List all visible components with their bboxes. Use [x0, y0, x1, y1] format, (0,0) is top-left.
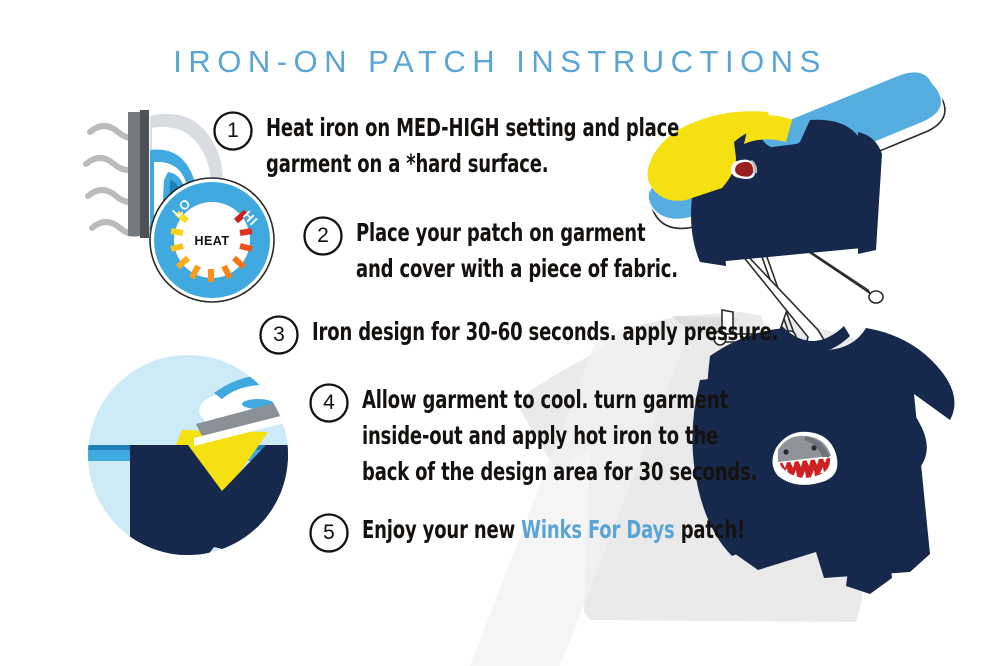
instruction-poster: LO HI HEAT — [0, 0, 1000, 666]
step-2-number: 2 — [302, 215, 344, 257]
iron-soleplate-edge — [128, 112, 140, 236]
badge-yellow-cloth — [172, 430, 268, 498]
step-3-text: Iron design for 30-60 seconds. apply pre… — [312, 314, 778, 350]
step-3-number: 3 — [258, 314, 300, 356]
step-5-line-1: Enjoy your new Winks For Days patch! — [362, 512, 745, 548]
step-1-number: 1 — [212, 110, 254, 152]
step-2-line-2: and cover with a piece of fabric. — [356, 251, 678, 287]
diagonal-shadow — [470, 330, 690, 666]
step-3-line-1: Iron design for 30-60 seconds. apply pre… — [312, 314, 778, 350]
step-4-line-3: back of the design area for 30 seconds. — [362, 454, 757, 490]
step-1-text: Heat iron on MED-HIGH setting and place … — [266, 110, 679, 182]
iron-blue-body — [150, 150, 197, 248]
step-4-text: Allow garment to cool. turn garment insi… — [362, 382, 757, 490]
step-4-line-1: Allow garment to cool. turn garment — [362, 382, 757, 418]
badge-iron-plate — [196, 394, 315, 436]
step-2-line-1: Place your patch on garment — [356, 215, 678, 251]
step-2-text: Place your patch on garment and cover wi… — [356, 215, 678, 287]
dial-ticks — [171, 212, 252, 282]
step-3: 3 Iron design for 30-60 seconds. apply p… — [258, 314, 895, 356]
step-1-line-2: garment on a *hard surface. — [266, 146, 679, 182]
heat-dial-group: LO HI HEAT — [150, 178, 274, 302]
step-2-number-badge: 2 — [302, 215, 344, 257]
dial-label-hi: HI — [240, 208, 261, 229]
dial-label-lo: LO — [169, 195, 194, 220]
dial-outer-ring — [150, 178, 274, 302]
page-title: IRON-ON PATCH INSTRUCTIONS — [0, 44, 1000, 80]
dial-face — [174, 202, 250, 278]
step-5-part-1: Enjoy your new — [362, 515, 521, 544]
badge-iron-body — [199, 371, 317, 429]
steam-lines — [86, 126, 148, 234]
step-5-number-badge: 5 — [308, 512, 350, 554]
step-5-number: 5 — [308, 512, 350, 554]
badge-background — [88, 355, 288, 555]
step-1-number-badge: 1 — [212, 110, 254, 152]
iron-side-view-group — [86, 110, 223, 255]
step-5: 5 Enjoy your new Winks For Days patch! — [308, 512, 841, 554]
brand-name: Winks For Days — [521, 515, 674, 544]
dial-label-heat: HEAT — [194, 234, 229, 248]
step-1: 1 Heat iron on MED-HIGH setting and plac… — [212, 110, 782, 182]
step-4-number-badge: 4 — [308, 382, 350, 424]
step-1-line-1: Heat iron on MED-HIGH setting and place — [266, 110, 679, 146]
step-5-part-3: patch! — [675, 515, 745, 544]
tshirt-sleeve — [860, 372, 927, 472]
step-4: 4 Allow garment to cool. turn garment in… — [308, 382, 856, 490]
step-4-line-2: inside-out and apply hot iron to the — [362, 418, 757, 454]
step-4-number: 4 — [308, 382, 350, 424]
step-5-text: Enjoy your new Winks For Days patch! — [362, 512, 745, 548]
dial-blue-ring — [154, 182, 270, 298]
step-2: 2 Place your patch on garment and cover … — [302, 215, 758, 287]
step-3-number-badge: 3 — [258, 314, 300, 356]
